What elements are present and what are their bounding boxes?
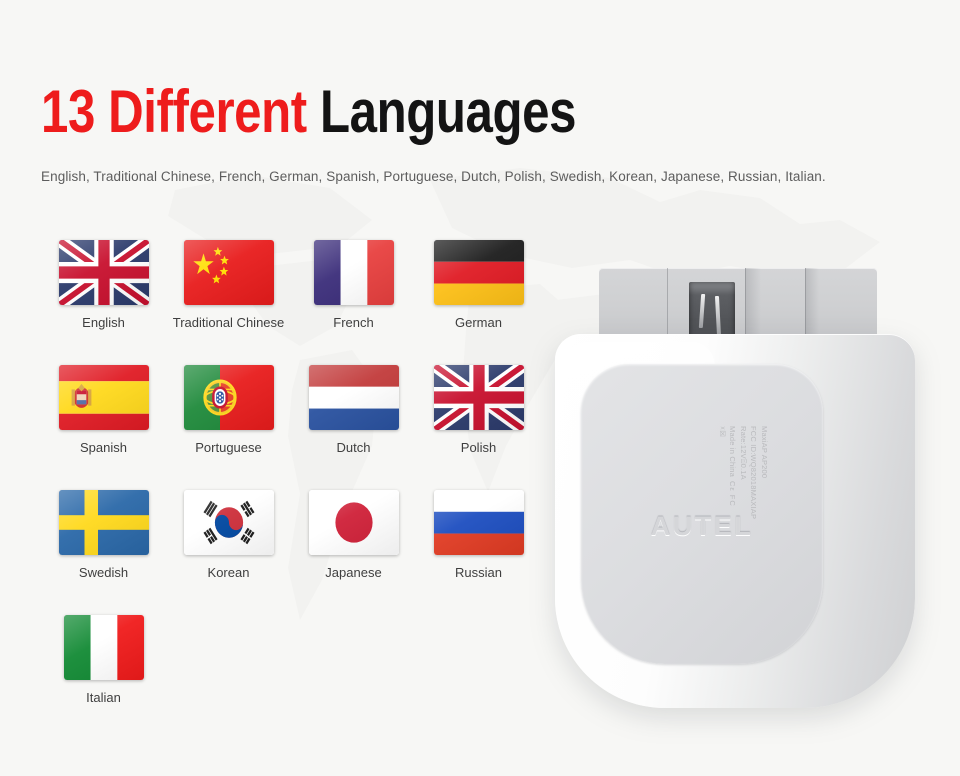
language-label: German [455, 315, 502, 330]
product-image-autel-ap200: AUTEL MaxiAP AP200 FCC ID:WQ82018MAXIAP … [555, 268, 955, 708]
language-item-swedish: Swedish [41, 490, 166, 615]
language-row: Spanish [41, 365, 561, 490]
language-label: English [82, 315, 125, 330]
flag-italy-icon [64, 615, 144, 680]
flag-japan-icon [309, 490, 399, 555]
side-label-model: MaxiAP AP200 [759, 426, 770, 519]
device-front-panel: AUTEL [581, 364, 823, 664]
flag-uk-icon [434, 365, 524, 430]
device-side-label: MaxiAP AP200 FCC ID:WQ82018MAXIAP Rate:1… [717, 426, 770, 519]
autel-brand-logo: AUTEL [581, 511, 823, 542]
language-label: Italian [86, 690, 121, 705]
language-label: Dutch [337, 440, 371, 455]
language-label: Portuguese [195, 440, 262, 455]
flag-russia-icon [434, 490, 524, 555]
language-item-spanish: Spanish [41, 365, 166, 490]
language-item-english: English [41, 240, 166, 365]
device-body: AUTEL MaxiAP AP200 FCC ID:WQ82018MAXIAP … [555, 334, 915, 708]
language-label: Swedish [79, 565, 128, 580]
language-item-french: French [291, 240, 416, 365]
subtitle: English, Traditional Chinese, French, Ge… [41, 169, 826, 184]
side-label-fcc-id: FCC ID:WQ82018MAXIAP [748, 426, 759, 519]
flag-portugal-icon [184, 365, 274, 430]
flag-uk-icon [59, 240, 149, 305]
side-label-rating: Rate:12V⍐0.1A [738, 426, 749, 519]
language-label: Japanese [325, 565, 381, 580]
language-item-traditional-chinese: Traditional Chinese [166, 240, 291, 365]
language-promo-page: 13 Different Languages English, Traditio… [0, 0, 960, 776]
language-label: Polish [461, 440, 496, 455]
language-label: Russian [455, 565, 502, 580]
language-item-italian: Italian [41, 615, 166, 740]
language-row: Italian [41, 615, 561, 740]
flag-france-icon [314, 240, 394, 305]
language-label: French [333, 315, 373, 330]
connector-pin [699, 294, 705, 328]
language-item-german: German [416, 240, 541, 365]
language-item-portuguese: Portuguese [166, 365, 291, 490]
language-label: Korean [208, 565, 250, 580]
language-item-korean: Korean [166, 490, 291, 615]
page-title: 13 Different Languages [41, 82, 576, 142]
flag-germany-icon [434, 240, 524, 305]
flag-sweden-icon [59, 490, 149, 555]
language-label: Traditional Chinese [173, 315, 285, 330]
language-item-russian: Russian [416, 490, 541, 615]
language-label: Spanish [80, 440, 127, 455]
language-grid: English Tradition [41, 240, 561, 740]
language-row: Swedish [41, 490, 561, 615]
language-item-japanese: Japanese [291, 490, 416, 615]
flag-china-icon [184, 240, 274, 305]
flag-spain-icon [59, 365, 149, 430]
certification-marks-icon: Cε FC [727, 481, 738, 507]
language-item-polish: Polish [416, 365, 541, 490]
side-label-origin: Made in ChinaCε FC [727, 426, 738, 519]
connector-pin [715, 296, 721, 336]
flag-netherlands-icon [309, 365, 399, 430]
page-title-highlight: 13 Different [41, 78, 307, 145]
page-title-rest: Languages [320, 78, 576, 145]
flag-south-korea-icon [184, 490, 274, 555]
weee-bin-icon: ☓☒ [717, 426, 728, 519]
language-item-dutch: Dutch [291, 365, 416, 490]
language-row: English Tradition [41, 240, 561, 365]
